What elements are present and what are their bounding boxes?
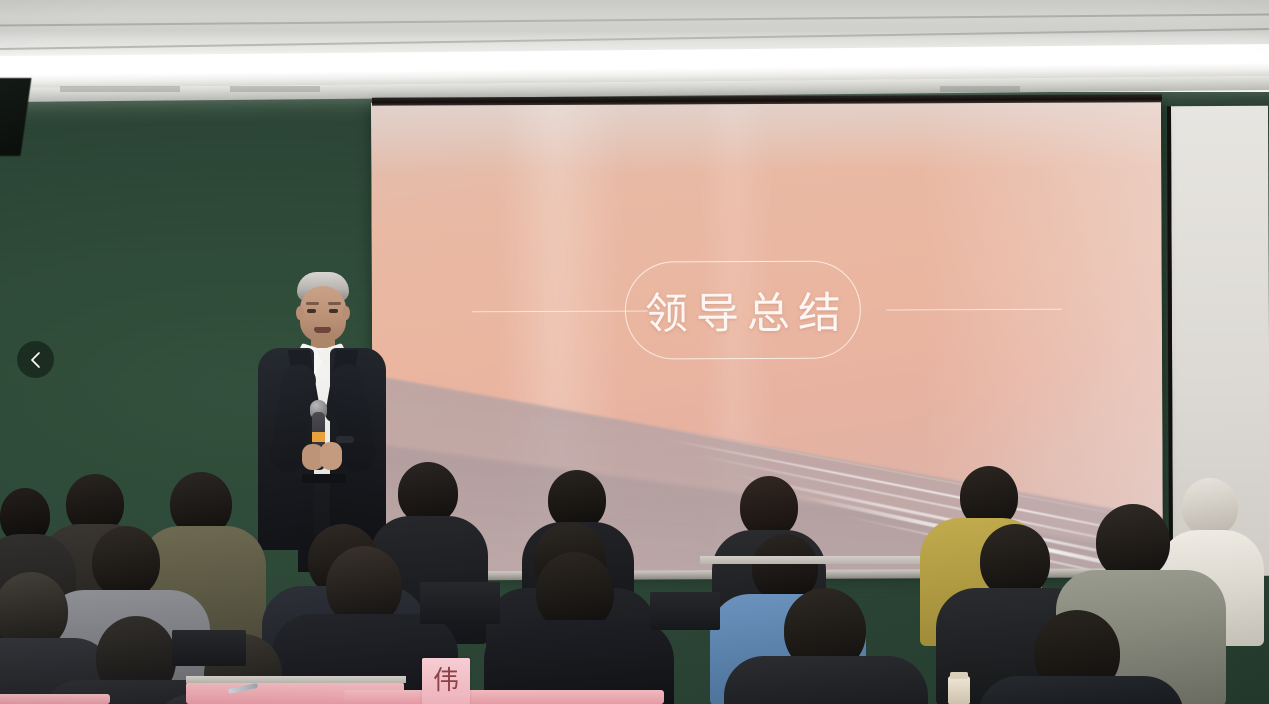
audience-head	[980, 524, 1050, 598]
slide-title: 领导总结	[637, 279, 849, 342]
presenter-head	[300, 286, 346, 342]
water-bottle	[948, 676, 970, 704]
bottle-cap	[950, 672, 968, 679]
presenter-eye	[307, 309, 316, 313]
name-placard: 伟	[422, 658, 470, 704]
laptop	[172, 630, 246, 666]
presenter-eyebrow	[306, 302, 319, 305]
presenter-mouth	[314, 327, 331, 333]
ceiling-vent	[230, 86, 320, 92]
table-edge	[700, 556, 920, 564]
audience-head-light-hat	[1182, 478, 1238, 536]
slide-title-pill: 领导总结	[625, 261, 861, 360]
chevron-left-icon	[29, 351, 43, 369]
image-viewer-stage: 领导总结	[0, 0, 1269, 704]
laptop	[650, 592, 720, 630]
presenter-ear	[342, 306, 350, 320]
ceiling-seam	[0, 13, 1269, 26]
conference-table	[0, 694, 110, 704]
previous-image-button[interactable]	[17, 341, 54, 378]
audience-head	[92, 526, 160, 598]
presenter-ear	[296, 306, 304, 320]
audience-body	[978, 676, 1184, 704]
audience-head	[740, 476, 798, 538]
audience-body	[724, 656, 928, 704]
name-placard-text: 伟	[433, 668, 459, 694]
ceiling-vent	[60, 86, 180, 92]
presenter-eyebrow	[328, 302, 341, 305]
table-edge	[186, 676, 406, 683]
audience-head	[398, 462, 458, 524]
presenter-eye	[329, 309, 338, 313]
conference-table	[344, 690, 664, 704]
laptop	[420, 582, 500, 624]
audience-head	[548, 470, 606, 530]
ceiling-vent	[940, 86, 1020, 92]
audience-head	[1096, 504, 1170, 580]
